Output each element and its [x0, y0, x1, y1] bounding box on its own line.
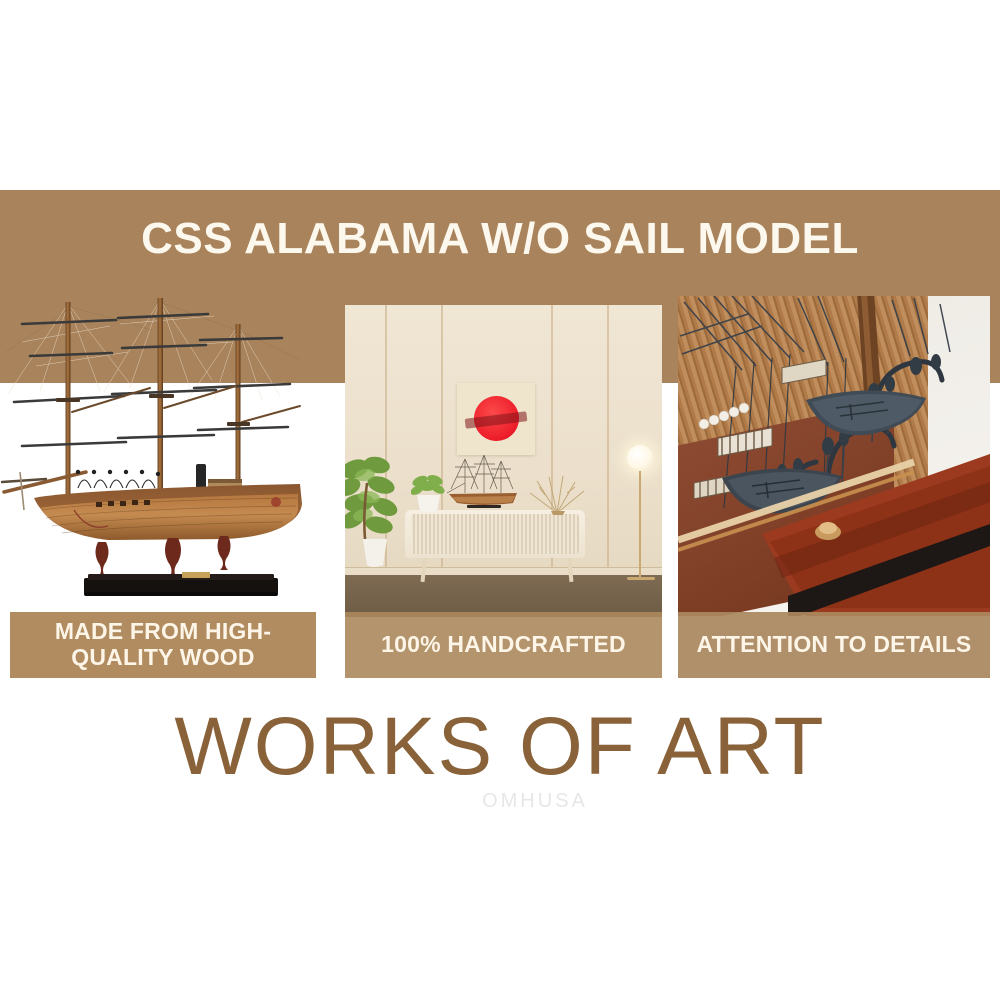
page-title: CSS ALABAMA W/O SAIL MODEL — [0, 214, 1000, 264]
caption-bar-handcrafted: 100% HANDCRAFTED — [345, 612, 662, 678]
dried-branch-arrangement — [527, 473, 587, 515]
panel-room-setting[interactable] — [345, 305, 662, 617]
ship-model-image — [0, 296, 330, 616]
large-potted-plant — [345, 453, 405, 571]
product-infographic-poster: CSS ALABAMA W/O SAIL MODEL — [0, 0, 1000, 1000]
brand-watermark: OMHUSA — [0, 790, 1000, 813]
caption-text: ATTENTION TO DETAILS — [697, 632, 972, 658]
display-ship-model — [445, 453, 523, 513]
globe-floor-lamp — [623, 445, 657, 585]
room-floor — [345, 575, 662, 617]
wall-moulding — [607, 305, 609, 575]
rigging-detail-illustration — [678, 296, 990, 616]
panel-detail-closeup[interactable] — [678, 296, 990, 616]
lamp-globe — [627, 445, 653, 471]
lamp-pole — [639, 471, 641, 579]
credenza — [405, 510, 585, 558]
caption-text: 100% HANDCRAFTED — [381, 632, 626, 658]
small-potted-plant — [411, 473, 445, 513]
caption-bar-attention-to-details: ATTENTION TO DETAILS — [678, 612, 990, 678]
caption-bar-made-from-wood: MADE FROM HIGH-QUALITY WOOD — [10, 612, 316, 678]
panel-full-ship-model[interactable] — [0, 296, 330, 616]
credenza-fluting — [411, 514, 579, 554]
wall-artwork — [457, 383, 535, 455]
caption-text: MADE FROM HIGH-QUALITY WOOD — [10, 619, 316, 671]
lamp-foot — [627, 577, 655, 580]
bottom-headline: WORKS OF ART — [0, 700, 1000, 794]
